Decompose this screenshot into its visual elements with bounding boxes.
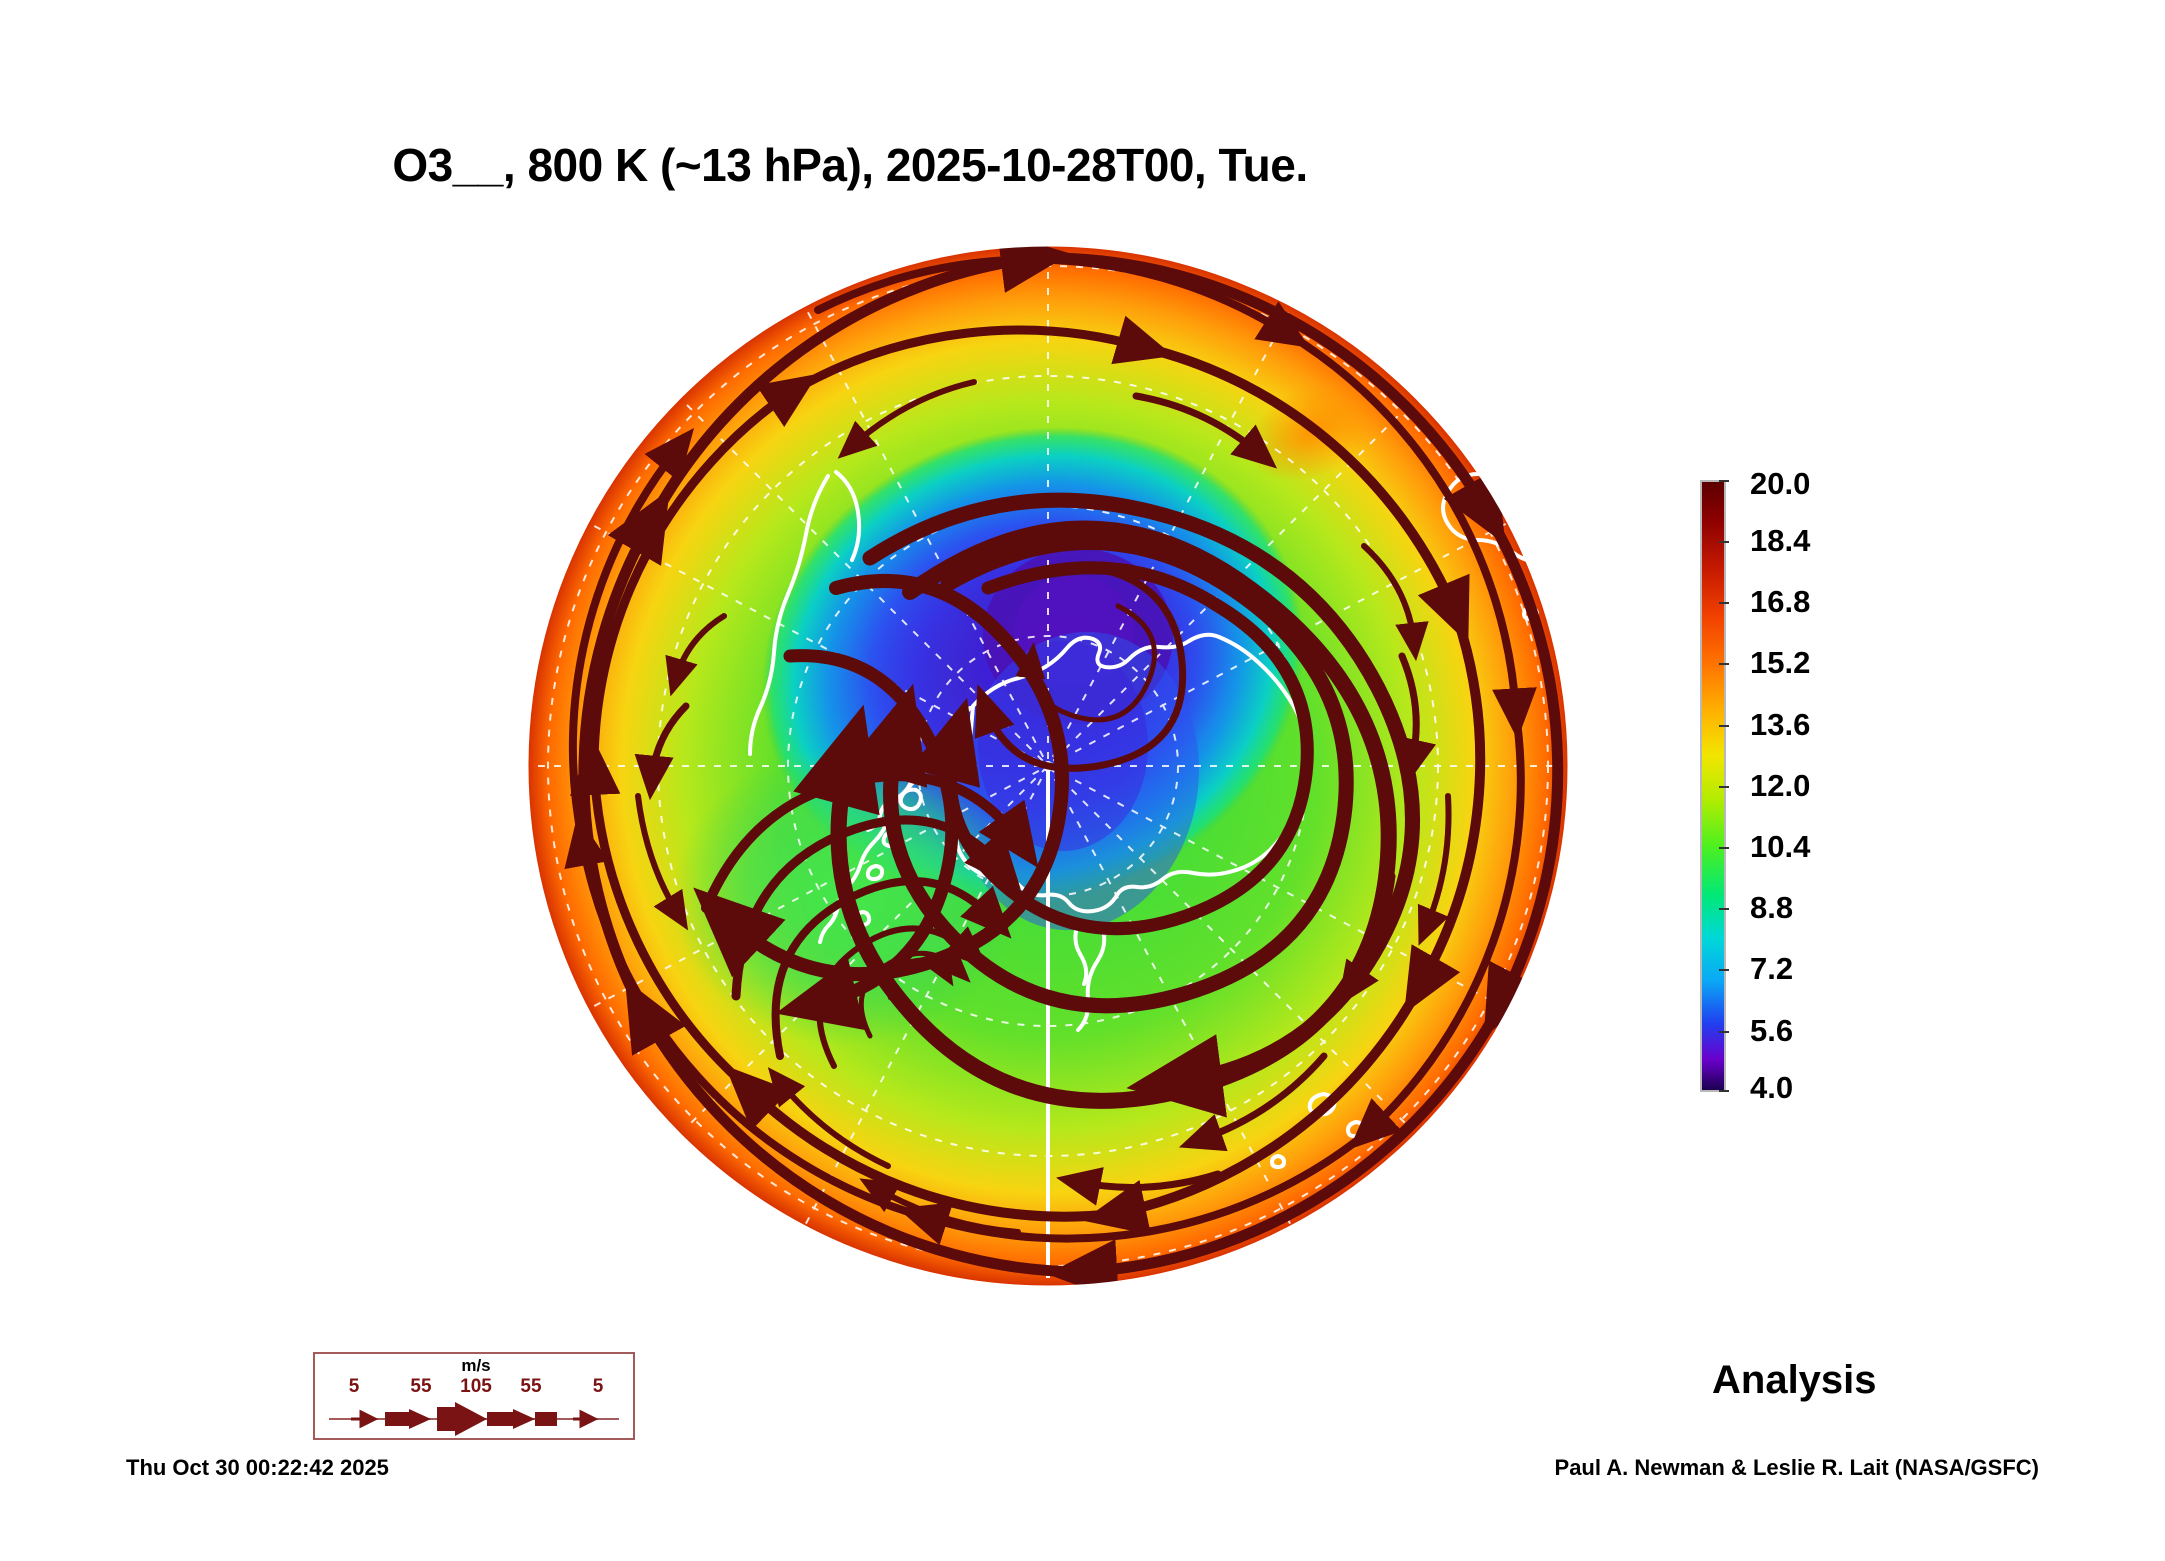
colorbar-tick bbox=[1719, 480, 1729, 482]
colorbar-tick bbox=[1719, 786, 1729, 788]
wind-key-value: 105 bbox=[460, 1376, 492, 1398]
colorbar-tick bbox=[1719, 847, 1729, 849]
colorbar-tick bbox=[1719, 969, 1729, 971]
colorbar-tick bbox=[1719, 1090, 1729, 1092]
wind-key-units-label: m/s bbox=[315, 1356, 637, 1376]
colorbar-label: 13.6 bbox=[1750, 707, 1810, 743]
colorbar-label: 8.8 bbox=[1750, 890, 1793, 926]
colorbar-label: 15.2 bbox=[1750, 645, 1810, 681]
colorbar-label: 7.2 bbox=[1750, 951, 1793, 987]
colorbar-label: 5.6 bbox=[1750, 1013, 1793, 1049]
colorbar-tick bbox=[1719, 1031, 1729, 1033]
wind-speed-key: m/s 5 55 105 55 5 bbox=[313, 1352, 635, 1440]
colorbar-label: 10.4 bbox=[1750, 829, 1810, 865]
author-credit: Paul A. Newman & Leslie R. Lait (NASA/GS… bbox=[1555, 1455, 2039, 1481]
colorbar-label: 4.0 bbox=[1750, 1070, 1793, 1106]
wind-key-value: 55 bbox=[520, 1376, 541, 1398]
generation-timestamp: Thu Oct 30 00:22:42 2025 bbox=[126, 1455, 389, 1481]
colorbar-tick bbox=[1719, 663, 1729, 665]
colorbar: 20.0 18.4 16.8 15.2 13.6 12.0 10.4 8.8 7… bbox=[1700, 480, 1960, 1092]
wind-key-arrows bbox=[315, 1398, 633, 1440]
map-field bbox=[528, 246, 1578, 1286]
wind-key-value: 5 bbox=[349, 1376, 360, 1398]
colorbar-label: 16.8 bbox=[1750, 584, 1810, 620]
colorbar-tick bbox=[1719, 541, 1729, 543]
polar-map bbox=[518, 236, 1578, 1296]
colorbar-label: 18.4 bbox=[1750, 523, 1810, 559]
wind-key-value: 5 bbox=[593, 1376, 604, 1398]
analysis-label: Analysis bbox=[1712, 1358, 1877, 1403]
page-title: O3__, 800 K (~13 hPa), 2025-10-28T00, Tu… bbox=[0, 138, 1700, 192]
colorbar-label: 12.0 bbox=[1750, 768, 1810, 804]
map-canvas bbox=[518, 236, 1578, 1296]
colorbar-tick bbox=[1719, 602, 1729, 604]
colorbar-tick bbox=[1719, 908, 1729, 910]
colorbar-label: 20.0 bbox=[1750, 466, 1810, 502]
wind-key-value: 55 bbox=[410, 1376, 431, 1398]
colorbar-tick bbox=[1719, 725, 1729, 727]
